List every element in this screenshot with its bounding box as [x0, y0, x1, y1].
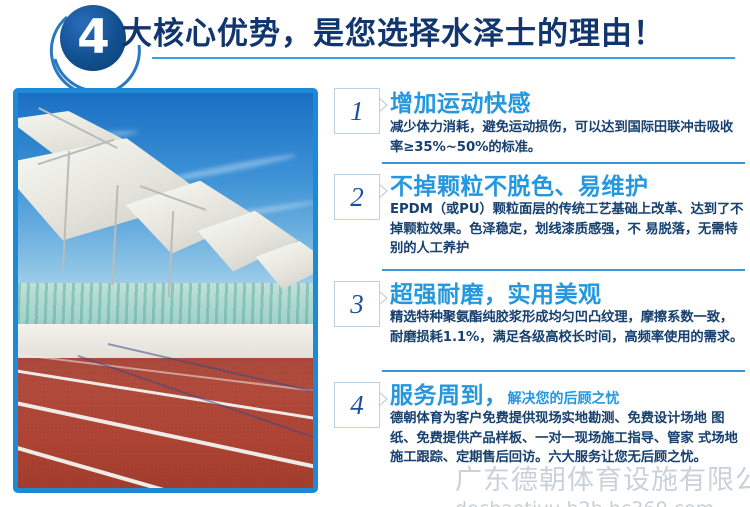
header-accent-line	[152, 57, 735, 59]
feature-body: 减少体力消耗，避免运动损伤，可以达到国际田联冲击吸收率≥35%~50%的标准。	[390, 118, 746, 157]
feature-number: 1	[335, 89, 379, 133]
page-root: 4 大核心优势，是您选择水泽士的理由！	[0, 0, 750, 507]
feature-body: 精选特种聚氨酯纯胶浆形成均匀凹凸纹理，摩擦系数一致，耐磨损耗1.1%，满足各级高…	[390, 308, 746, 347]
feature-number-box: 3	[334, 281, 380, 327]
feature-heading-text: 服务周到，	[390, 383, 508, 409]
feature-divider	[382, 370, 745, 372]
feature-heading: 不掉颗粒不脱色、易维护	[390, 167, 649, 201]
page-title: 大核心优势，是您选择水泽士的理由！	[121, 8, 665, 53]
feature-list: 1 增加运动快感 减少体力消耗，避免运动损伤，可以达到国际田联冲击吸收率≥35%…	[332, 84, 750, 494]
feature-divider	[382, 269, 745, 271]
badge-number: 4	[77, 14, 109, 61]
feature-heading-text: 不掉颗粒不脱色、易维护	[390, 174, 649, 200]
feature-heading-text: 增加运动快感	[390, 91, 531, 117]
chevron-right-icon	[379, 392, 389, 406]
feature-heading: 超强耐磨，实用美观	[390, 275, 602, 309]
stadium-wall	[18, 324, 313, 360]
page-header: 4 大核心优势，是您选择水泽士的理由！	[0, 0, 750, 78]
feature-heading-sub: 解决您的后顾之忧	[508, 391, 620, 407]
feature-heading: 增加运动快感	[390, 84, 531, 118]
chevron-right-icon	[379, 291, 389, 305]
feature-number-box: 1	[334, 88, 380, 134]
feature-heading-text: 超强耐磨，实用美观	[390, 282, 602, 308]
feature-number-box: 4	[334, 382, 380, 428]
feature-number: 4	[335, 383, 379, 427]
chevron-right-icon	[379, 98, 389, 112]
stadium-photo-frame	[13, 88, 318, 493]
seating-rows	[18, 283, 313, 326]
stadium-running-track-photo	[18, 93, 313, 488]
feature-heading: 服务周到，解决您的后顾之忧	[390, 376, 620, 410]
feature-body: 德朝体育为客户免费提供现场实地勘测、免费设计场地 图纸、免费提供产品样板、一对一…	[390, 409, 746, 468]
feature-number: 2	[335, 175, 379, 219]
watermark-url: dechaotiyu.b2b.hc360.com	[455, 498, 750, 507]
feature-body: EPDM（或PU）颗粒面层的传统工艺基础上改革、达到了不掉颗粒效果。色泽稳定，划…	[390, 200, 746, 259]
feature-number: 3	[335, 282, 379, 326]
chevron-right-icon	[379, 184, 389, 198]
feature-divider	[382, 162, 745, 164]
badge-circle: 4	[60, 5, 126, 71]
feature-number-box: 2	[334, 174, 380, 220]
